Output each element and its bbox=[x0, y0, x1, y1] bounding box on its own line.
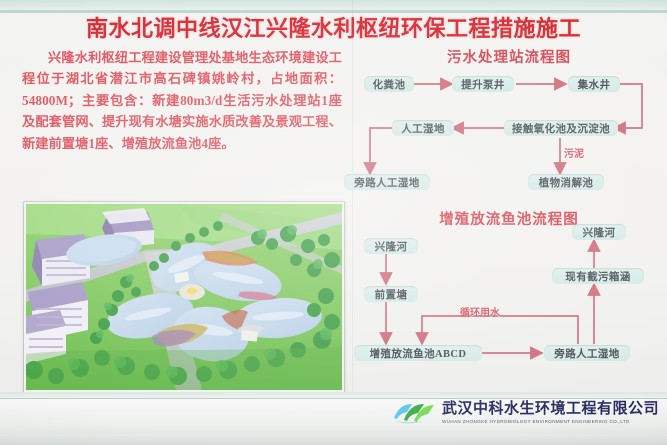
page-title: 南水北调中线汉江兴隆水利枢纽环保工程措施施工 bbox=[86, 11, 581, 43]
node-rengongshidi: 人工湿地 bbox=[392, 120, 454, 136]
poster-board: 南水北调中线汉江兴隆水利枢纽环保工程措施施工 兴隆水利枢纽工程建设管理处基地生态… bbox=[0, 0, 667, 445]
aerial-rendering-illustration bbox=[26, 204, 342, 390]
panel-seam bbox=[352, 0, 353, 445]
title-bar: 南水北调中线汉江兴隆水利枢纽环保工程措施施工 bbox=[0, 11, 667, 43]
flowchart-fish-pond: 增殖放流鱼池流程图 兴隆河 前 bbox=[356, 208, 662, 383]
company-logo-icon bbox=[392, 402, 436, 424]
edge-label-wuni: 污泥 bbox=[564, 145, 584, 160]
left-column: 兴隆水利枢纽工程建设管理处基地生态环境建设工程位于湖北省潜江市高石碑镇姚岭村，占… bbox=[22, 47, 342, 154]
company-name-cn: 武汉中科水生环境工程有限公司 bbox=[442, 402, 659, 417]
company-logo: 武汉中科水生环境工程有限公司 WUHAN ZHONGKE HYDROBIOLOG… bbox=[392, 402, 659, 425]
footer-bottom-edge bbox=[0, 434, 667, 445]
node-zengzhi-fangliu-yuchi: 增殖放流鱼池ABCD bbox=[354, 345, 482, 361]
node-huafenchi: 化粪池 bbox=[364, 76, 414, 92]
aerial-rendering-photo bbox=[24, 202, 344, 392]
company-logo-text: 武汉中科水生环境工程有限公司 WUHAN ZHONGKE HYDROBIOLOG… bbox=[442, 402, 659, 425]
node-tishengbengjing: 提升泵井 bbox=[452, 76, 514, 92]
node-panglu-rengongshidi-2: 旁路人工湿地 bbox=[544, 345, 630, 361]
node-jiechuyanghua: 接触氧化池及沉淀池 bbox=[504, 120, 618, 136]
project-description: 兴隆水利枢纽工程建设管理处基地生态环境建设工程位于湖北省潜江市高石碑镇姚岭村，占… bbox=[22, 47, 342, 154]
node-jishuijing: 集水井 bbox=[568, 76, 620, 92]
node-panglu-rengongshidi: 旁路人工湿地 bbox=[344, 174, 430, 190]
top-border-band bbox=[0, 0, 667, 10]
node-xinglonghe-outlet: 兴隆河 bbox=[572, 224, 626, 240]
company-name-en: WUHAN ZHONGKE HYDROBIOLOGY ENVIRONMENT E… bbox=[442, 420, 659, 425]
node-qianzhitang: 前置塘 bbox=[364, 286, 418, 302]
flowchart-wastewater-station: 污水处理站流程图 化粪池 提升 bbox=[356, 46, 662, 196]
node-xinglonghe-inlet: 兴隆河 bbox=[364, 238, 418, 254]
edge-label-xunhuanyongshui: 循环用水 bbox=[460, 304, 500, 319]
node-jiewu-xianghan: 现有截污箱涵 bbox=[552, 268, 644, 284]
node-zhiwuxiaojiechi: 植物消解池 bbox=[528, 174, 604, 190]
